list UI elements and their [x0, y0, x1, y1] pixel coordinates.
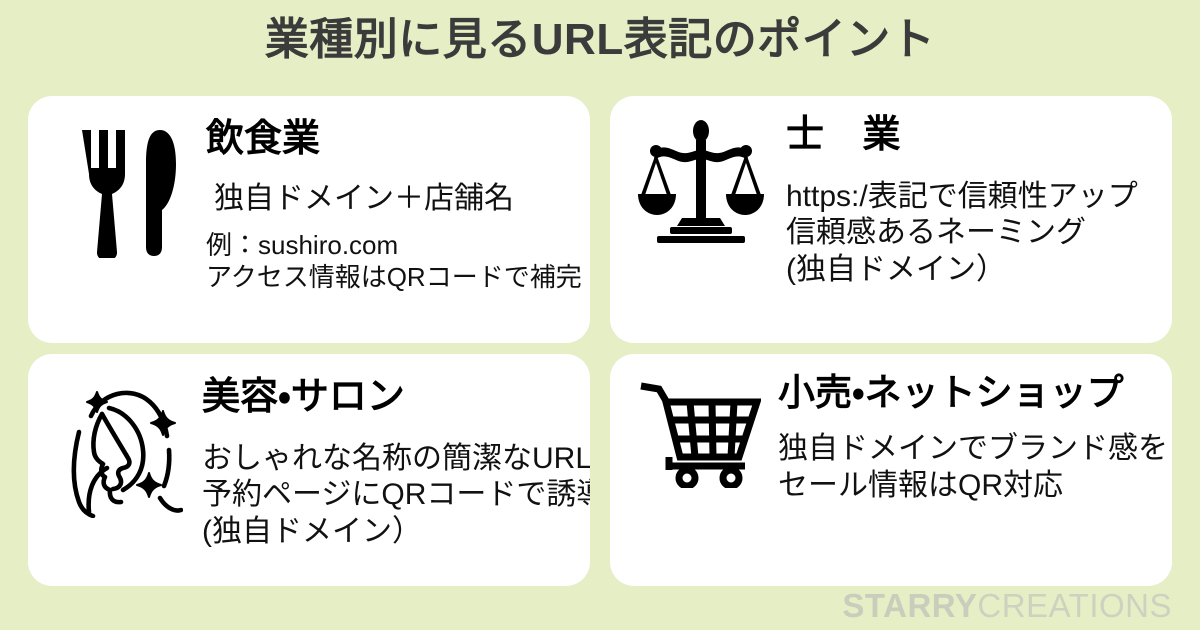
card-legal-line-1: https:/表記で信頼性アップ [786, 179, 1166, 216]
balance-scales-icon [626, 114, 776, 244]
card-restaurant-lead: 独自ドメイン＋店舗名 [206, 181, 590, 218]
watermark-brand-light: CREATIONS [977, 587, 1172, 624]
card-restaurant-line-2: アクセス情報はQRコードで補完 [206, 261, 590, 293]
card-beauty-line-1: おしゃれな名称の簡潔なURL [202, 441, 590, 478]
card-legal: 士 業 https:/表記で信頼性アップ 信頼感あるネーミング (独自ドメイン） [610, 96, 1172, 343]
shopping-cart-icon [630, 372, 770, 488]
card-grid: 飲食業 独自ドメイン＋店舗名 例：sushiro.com アクセス情報はQRコー… [28, 96, 1172, 586]
card-retail-line-2: セール情報はQR対応 [778, 468, 1172, 505]
card-retail-line-1: 独自ドメインでブランド感を [778, 431, 1172, 468]
watermark-brand-bold: STARRY [842, 587, 977, 624]
card-legal-heading: 士 業 [786, 114, 1166, 157]
woman-profile-sparkle-icon [54, 376, 194, 518]
card-retail: 小売・ネットショップ 独自ドメインでブランド感を セール情報はQR対応 [610, 354, 1172, 586]
card-beauty-heading: 美容・サロン [202, 376, 590, 419]
card-beauty: 美容・サロン おしゃれな名称の簡潔なURL 予約ページにQRコードで誘導 (独自… [28, 354, 590, 586]
card-legal-line-2: 信頼感あるネーミング [786, 215, 1166, 252]
card-restaurant-text: 飲食業 独自ドメイン＋店舗名 例：sushiro.com アクセス情報はQRコー… [198, 118, 590, 294]
card-retail-text: 小売・ネットショップ 独自ドメインでブランド感を セール情報はQR対応 [770, 372, 1172, 505]
card-restaurant: 飲食業 独自ドメイン＋店舗名 例：sushiro.com アクセス情報はQRコー… [28, 96, 590, 343]
card-restaurant-line-1: 例：sushiro.com [206, 229, 590, 261]
card-beauty-text: 美容・サロン おしゃれな名称の簡潔なURL 予約ページにQRコードで誘導 (独自… [194, 376, 590, 550]
card-legal-text: 士 業 https:/表記で信頼性アップ 信頼感あるネーミング (独自ドメイン） [776, 114, 1166, 288]
watermark: STARRYCREATIONS [842, 589, 1172, 622]
page-title: 業種別に見るURL表記のポイント [0, 14, 1200, 67]
card-beauty-line-2: 予約ページにQRコードで誘導 [202, 477, 590, 514]
card-retail-heading: 小売・ネットショップ [778, 372, 1172, 413]
card-restaurant-heading: 飲食業 [206, 118, 590, 161]
fork-knife-icon [58, 118, 198, 258]
card-beauty-line-3: (独自ドメイン） [202, 514, 590, 551]
infographic-poster: 業種別に見るURL表記のポイント 飲食業 独自ドメイン＋店舗名 例：sushir… [0, 0, 1200, 630]
card-legal-line-3: (独自ドメイン） [786, 252, 1166, 289]
